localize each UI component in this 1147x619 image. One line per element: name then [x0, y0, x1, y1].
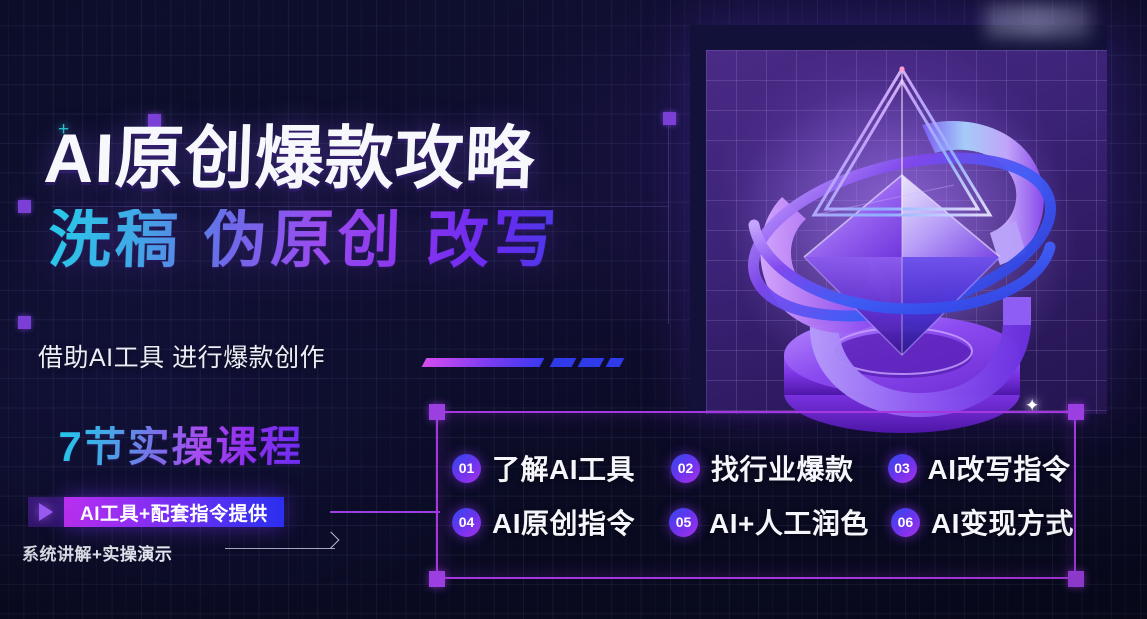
frame-node-bottom-right — [1068, 571, 1084, 587]
play-button[interactable] — [28, 497, 64, 527]
corner-node-top-right — [663, 112, 676, 125]
course-number-badge: 06 — [891, 508, 920, 537]
frame-node-bottom-left — [429, 571, 445, 587]
artwork-panel-grid — [706, 50, 1107, 414]
tagline-bar — [422, 358, 545, 367]
blurred-watermark — [985, 4, 1091, 38]
footnote-text: 系统讲解+实操演示 — [22, 540, 172, 565]
course-number-badge: 03 — [888, 454, 917, 483]
course-number-badge: 02 — [671, 454, 700, 483]
corner-node-bottom-left — [18, 316, 31, 329]
course-item-label: 找行业爆款 — [711, 448, 854, 488]
course-item-04[interactable]: 04AI原创指令 — [452, 502, 635, 542]
course-item-06[interactable]: 06AI变现方式 — [891, 502, 1074, 542]
course-item-label: AI变现方式 — [931, 502, 1074, 542]
course-item-label: AI+人工润色 — [709, 502, 869, 542]
course-row: 04AI原创指令05AI+人工润色06AI变现方式 — [452, 502, 1092, 542]
course-item-03[interactable]: 03AI改写指令 — [888, 448, 1071, 488]
page-title: AI原创爆款攻略 — [43, 124, 536, 193]
page-subtitle: 洗稿 伪原创 改写 — [47, 209, 561, 272]
course-item-label: 了解AI工具 — [492, 448, 635, 488]
play-triangle-icon — [39, 503, 53, 521]
course-row: 01了解AI工具02找行业爆款03AI改写指令 — [452, 448, 1092, 488]
course-item-01[interactable]: 01了解AI工具 — [452, 448, 635, 488]
badge-connector-line — [330, 511, 440, 513]
course-item-label: AI改写指令 — [928, 448, 1071, 488]
course-item-02[interactable]: 02找行业爆款 — [671, 448, 854, 488]
course-item-label: AI原创指令 — [492, 502, 635, 542]
tagline: 借助AI工具 进行爆款创作 — [38, 346, 325, 371]
tools-badge[interactable]: AI工具+配套指令提供 — [28, 497, 284, 527]
frame-node-top-left — [429, 404, 445, 420]
course-item-05[interactable]: 05AI+人工润色 — [669, 502, 869, 542]
corner-node-left — [18, 200, 31, 213]
course-number-badge: 01 — [452, 454, 481, 483]
footnote-arrow-line — [225, 548, 335, 549]
course-list: 01了解AI工具02找行业爆款03AI改写指令04AI原创指令05AI+人工润色… — [452, 430, 1092, 560]
course-number-badge: 04 — [452, 508, 481, 537]
lessons-count-title: 7节实操课程 — [57, 426, 304, 468]
artwork-panel — [690, 25, 1107, 414]
frame-node-top-right — [1068, 404, 1084, 420]
guide-line-vertical — [668, 118, 669, 324]
tools-badge-label: AI工具+配套指令提供 — [64, 497, 284, 527]
poster-canvas: ✦ + AI原创爆款攻略 洗稿 伪原创 改写 借助AI工具 进行爆款创作 7节实… — [0, 0, 1147, 619]
course-number-badge: 05 — [669, 508, 698, 537]
